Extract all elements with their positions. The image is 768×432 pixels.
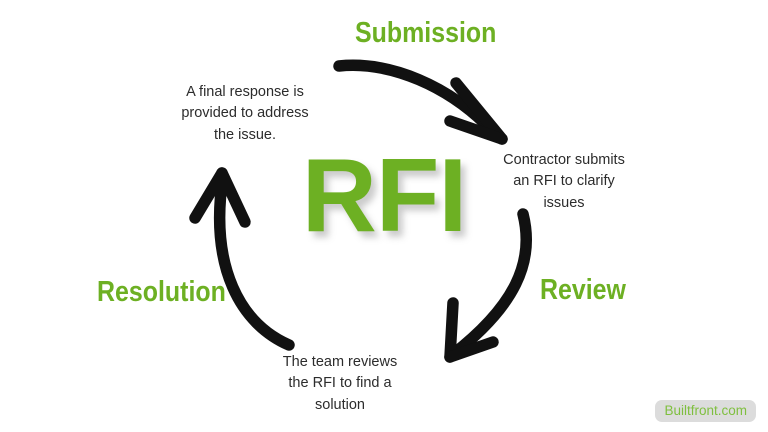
page-title: RFI [0, 144, 768, 248]
stage-description-submission: Contractor submits an RFI to clarify iss… [478, 150, 650, 214]
arrow-submission-icon [339, 65, 502, 139]
watermark-badge: Builtfront.com [655, 400, 756, 423]
rfi-cycle-diagram: RFI Submission Review Resolution Contrac… [0, 0, 768, 432]
stage-label-resolution: Resolution [97, 278, 226, 307]
stage-description-review: The team reviews the RFI to find a solut… [252, 352, 428, 416]
stage-label-review: Review [540, 276, 626, 305]
stage-description-resolution: A final response is provided to address … [159, 82, 331, 146]
stage-label-submission: Submission [355, 19, 496, 48]
